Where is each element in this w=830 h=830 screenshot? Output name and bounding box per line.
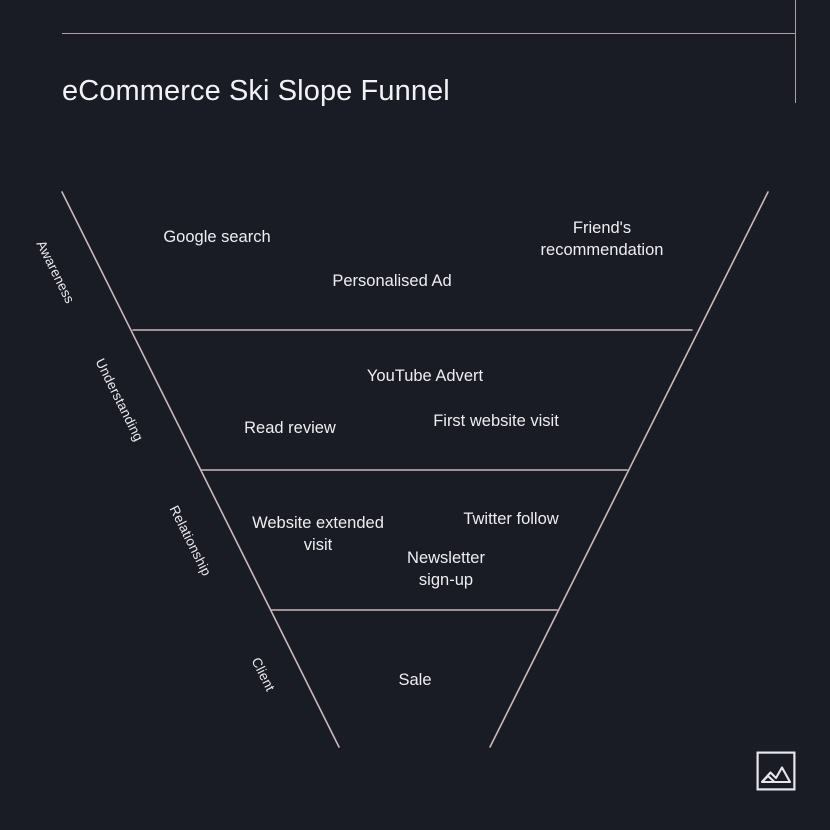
node-read-review: Read review	[244, 418, 336, 440]
node-youtube-advert: YouTube Advert	[367, 366, 483, 388]
node-personalised-ad: Personalised Ad	[332, 271, 451, 293]
node-first-website-visit: First website visit	[433, 411, 559, 433]
mountain-image-icon	[756, 751, 796, 791]
node-newsletter-sign-up: Newsletter sign-up	[407, 548, 485, 592]
node-website-extended-visit: Website extended visit	[252, 513, 384, 557]
node-google-search: Google search	[163, 227, 270, 249]
node-sale: Sale	[398, 670, 431, 692]
node-twitter-follow: Twitter follow	[463, 509, 558, 531]
node-friends-recommendation: Friend's recommendation	[541, 218, 664, 262]
slide-canvas: eCommerce Ski Slope Funnel Awareness Und…	[0, 0, 830, 830]
